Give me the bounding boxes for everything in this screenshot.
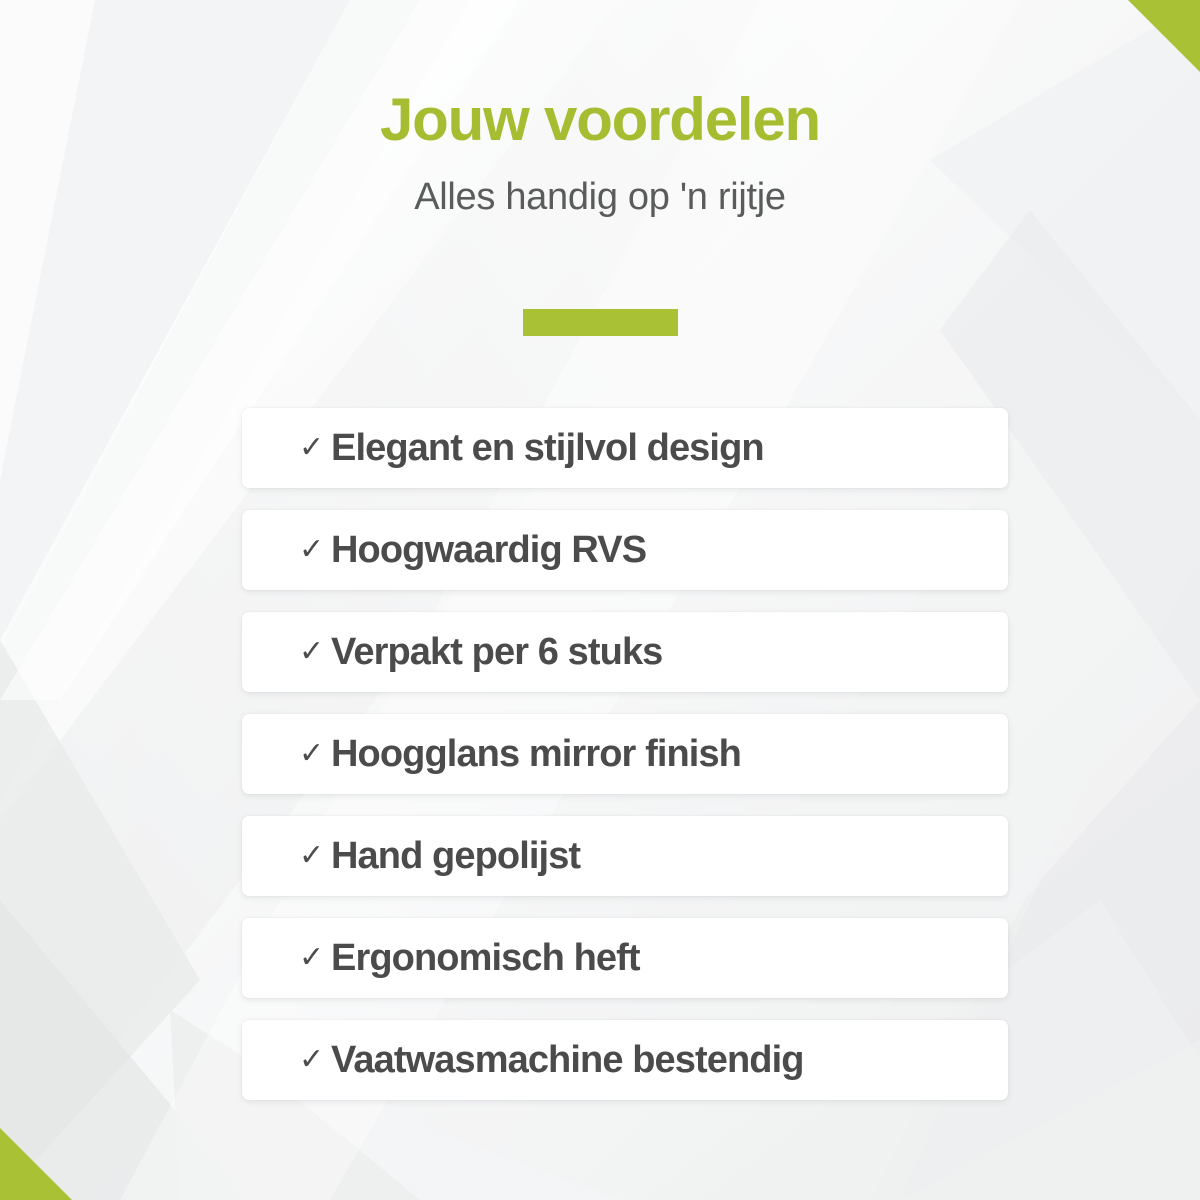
check-icon: ✓ xyxy=(299,841,331,871)
check-icon: ✓ xyxy=(299,943,331,973)
benefit-label: Hand gepolijst xyxy=(331,837,580,875)
benefit-label: Elegant en stijlvol design xyxy=(331,429,764,467)
header: Jouw voordelen Alles handig op 'n rijtje xyxy=(0,0,1200,220)
check-icon: ✓ xyxy=(299,637,331,667)
accent-divider-bar xyxy=(523,309,678,336)
check-icon: ✓ xyxy=(299,433,331,463)
list-item: ✓ Ergonomisch heft xyxy=(242,918,1008,998)
benefit-label: Vaatwasmachine bestendig xyxy=(331,1041,804,1079)
list-item: ✓ Verpakt per 6 stuks xyxy=(242,612,1008,692)
benefit-label: Ergonomisch heft xyxy=(331,939,640,977)
list-item: ✓ Hand gepolijst xyxy=(242,816,1008,896)
list-item: ✓ Hoogwaardig RVS xyxy=(242,510,1008,590)
benefit-label: Hoogglans mirror finish xyxy=(331,735,741,773)
check-icon: ✓ xyxy=(299,1045,331,1075)
benefits-list: ✓ Elegant en stijlvol design ✓ Hoogwaard… xyxy=(242,408,1008,1100)
check-icon: ✓ xyxy=(299,739,331,769)
page-subtitle: Alles handig op 'n rijtje xyxy=(0,153,1200,221)
benefit-label: Hoogwaardig RVS xyxy=(331,531,646,569)
list-item: ✓ Vaatwasmachine bestendig xyxy=(242,1020,1008,1100)
benefits-infographic: Jouw voordelen Alles handig op 'n rijtje… xyxy=(0,0,1200,1200)
page-title: Jouw voordelen xyxy=(0,0,1200,153)
check-icon: ✓ xyxy=(299,535,331,565)
list-item: ✓ Elegant en stijlvol design xyxy=(242,408,1008,488)
list-item: ✓ Hoogglans mirror finish xyxy=(242,714,1008,794)
benefit-label: Verpakt per 6 stuks xyxy=(331,633,662,671)
